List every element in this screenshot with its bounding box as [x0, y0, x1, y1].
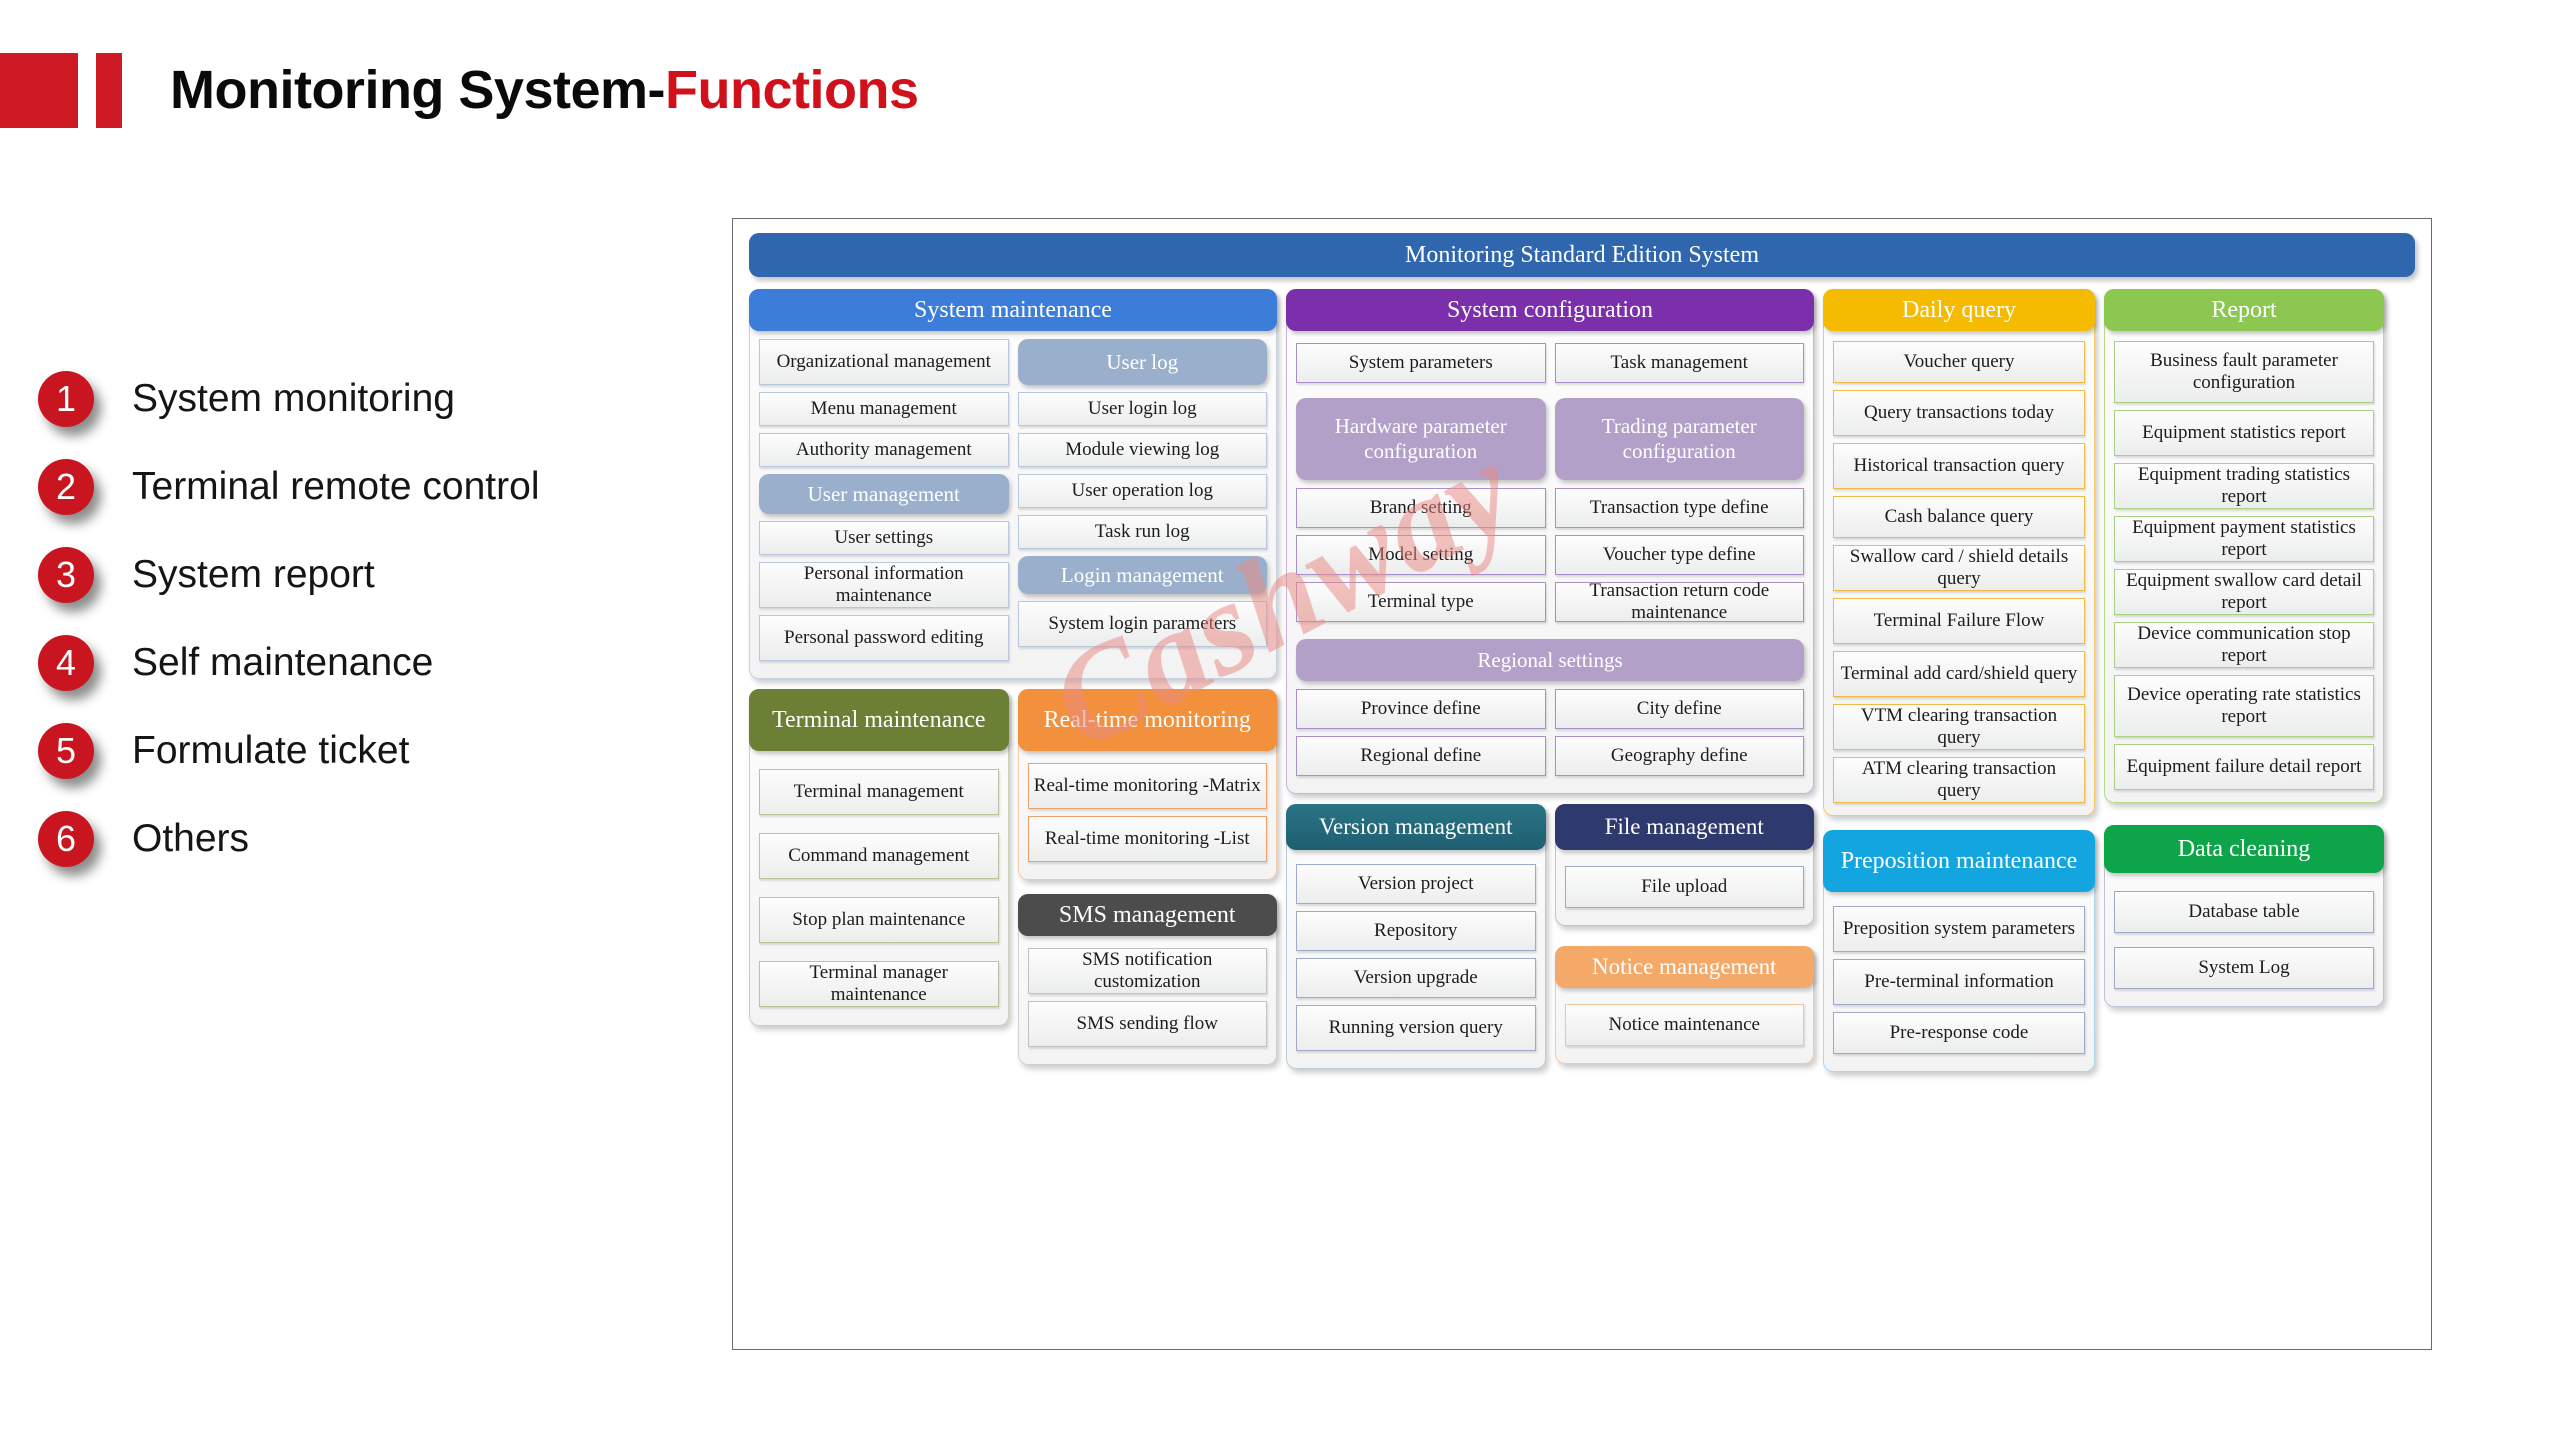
item-running-version-query[interactable]: Running version query — [1296, 1005, 1536, 1051]
diagram-frame: Cashway Monitoring Standard Edition Syst… — [732, 218, 2432, 1350]
agenda-number-badge: 2 — [38, 459, 94, 515]
item-system-log[interactable]: System Log — [2114, 947, 2374, 989]
item-preposition-system-parameters[interactable]: Preposition system parameters — [1833, 906, 2085, 952]
panel-header-report[interactable]: Report — [2104, 289, 2384, 331]
item-user-operation-log[interactable]: User operation log — [1018, 474, 1268, 508]
panel-header-sms-management[interactable]: SMS management — [1018, 894, 1278, 936]
panel-daily-query: Daily query Voucher query Query transact… — [1823, 289, 2095, 816]
item-terminal-management[interactable]: Terminal management — [759, 769, 999, 815]
system-maintenance-left-stack: Organizational management Menu managemen… — [759, 339, 1009, 668]
item-task-run-log[interactable]: Task run log — [1018, 515, 1268, 549]
panel-sms-management: SMS management SMS notification customiz… — [1018, 894, 1278, 1065]
item-swallow-card-shield-details-query[interactable]: Swallow card / shield details query — [1833, 545, 2085, 591]
title-decor-square-small — [96, 53, 122, 128]
item-user-settings[interactable]: User settings — [759, 521, 1009, 555]
slide-root: Monitoring System-Functions 1 System mon… — [0, 0, 2560, 1440]
item-equipment-failure-detail-report[interactable]: Equipment failure detail report — [2114, 744, 2374, 790]
item-model-setting[interactable]: Model setting — [1296, 535, 1546, 575]
regional-settings-body: Province define Regional define City def… — [1296, 681, 1804, 783]
item-voucher-type-define[interactable]: Voucher type define — [1555, 535, 1805, 575]
item-sms-sending-flow[interactable]: SMS sending flow — [1028, 1001, 1268, 1047]
item-pre-response-code[interactable]: Pre-response code — [1833, 1012, 2085, 1054]
panel-header-version-management[interactable]: Version management — [1286, 804, 1546, 850]
agenda-number-badge: 5 — [38, 723, 94, 779]
column-system-configuration: System configuration System parameters T… — [1286, 289, 1814, 1069]
agenda-item-label: Self maintenance — [132, 641, 433, 685]
item-brand-setting[interactable]: Brand setting — [1296, 488, 1546, 528]
panel-header-notice-management[interactable]: Notice management — [1555, 946, 1815, 988]
panel-header-file-management[interactable]: File management — [1555, 804, 1815, 850]
item-historical-transaction-query[interactable]: Historical transaction query — [1833, 443, 2085, 489]
agenda-item-2[interactable]: 2 Terminal remote control — [38, 443, 698, 531]
item-voucher-query[interactable]: Voucher query — [1833, 341, 2085, 383]
item-device-communication-stop-report[interactable]: Device communication stop report — [2114, 622, 2374, 668]
item-geography-define[interactable]: Geography define — [1555, 736, 1805, 776]
regional-left-stack: Province define Regional define — [1296, 689, 1546, 783]
item-personal-information-maintenance[interactable]: Personal information maintenance — [759, 562, 1009, 608]
master-system-banner: Monitoring Standard Edition System — [749, 233, 2415, 277]
subheader-login-management[interactable]: Login management — [1018, 556, 1268, 594]
column-report: Report Business fault parameter configur… — [2104, 289, 2384, 1007]
title-decor-square-large — [0, 53, 78, 128]
trading-parameter-stack: Trading parameter configuration Transact… — [1555, 398, 1805, 629]
panel-header-preposition-maintenance[interactable]: Preposition maintenance — [1823, 830, 2095, 892]
panel-realtime-monitoring: Real-time monitoring Real-time monitorin… — [1018, 689, 1278, 880]
panel-system-maintenance: System maintenance Organizational manage… — [749, 289, 1277, 679]
panel-header-daily-query[interactable]: Daily query — [1823, 289, 2095, 331]
agenda-number-badge: 4 — [38, 635, 94, 691]
panel-notice-management: Notice management Notice maintenance — [1555, 946, 1815, 1064]
version-file-row: Version management Version project Repos… — [1286, 804, 1814, 1069]
item-command-management[interactable]: Command management — [759, 833, 999, 879]
subheader-user-management[interactable]: User management — [759, 474, 1009, 514]
item-terminal-add-card-shield-query[interactable]: Terminal add card/shield query — [1833, 651, 2085, 697]
page-title-main: Monitoring System- — [170, 60, 665, 120]
agenda-list: 1 System monitoring 2 Terminal remote co… — [38, 355, 698, 883]
panel-header-system-configuration[interactable]: System configuration — [1286, 289, 1814, 331]
column-daily-query: Daily query Voucher query Query transact… — [1823, 289, 2095, 1072]
slide-title-row: Monitoring System-Functions — [0, 50, 919, 130]
page-title: Monitoring System-Functions — [170, 59, 919, 121]
item-query-transactions-today[interactable]: Query transactions today — [1833, 390, 2085, 436]
item-transaction-return-code-maintenance[interactable]: Transaction return code maintenance — [1555, 582, 1805, 622]
agenda-number-badge: 1 — [38, 371, 94, 427]
item-sms-notification-customization[interactable]: SMS notification customization — [1028, 948, 1268, 994]
agenda-item-1[interactable]: 1 System monitoring — [38, 355, 698, 443]
item-atm-clearing-transaction-query[interactable]: ATM clearing transaction query — [1833, 757, 2085, 803]
system-maintenance-body: Organizational management Menu managemen… — [750, 331, 1276, 668]
panel-file-management: File management File upload — [1555, 804, 1815, 926]
item-version-project[interactable]: Version project — [1296, 864, 1536, 904]
agenda-item-label: Others — [132, 817, 249, 861]
item-terminal-failure-flow[interactable]: Terminal Failure Flow — [1833, 598, 2085, 644]
terminal-maintenance-body: Terminal management Command management S… — [750, 751, 1008, 1007]
panel-data-cleaning: Data cleaning Database table System Log — [2104, 825, 2384, 1007]
item-equipment-trading-statistics-report[interactable]: Equipment trading statistics report — [2114, 463, 2374, 509]
agenda-number-badge: 6 — [38, 811, 94, 867]
agenda-item-4[interactable]: 4 Self maintenance — [38, 619, 698, 707]
item-business-fault-parameter-configuration[interactable]: Business fault parameter configuration — [2114, 341, 2374, 403]
item-notice-maintenance[interactable]: Notice maintenance — [1565, 1004, 1805, 1046]
agenda-number-badge: 3 — [38, 547, 94, 603]
item-personal-password-editing[interactable]: Personal password editing — [759, 615, 1009, 661]
version-management-wrap: Version management Version project Repos… — [1286, 804, 1546, 1069]
agenda-item-6[interactable]: 6 Others — [38, 795, 698, 883]
agenda-item-5[interactable]: 5 Formulate ticket — [38, 707, 698, 795]
item-database-table[interactable]: Database table — [2114, 891, 2374, 933]
preposition-maintenance-body: Preposition system parameters Pre-termin… — [1824, 892, 2094, 1054]
hardware-parameter-stack: Hardware parameter configuration Brand s… — [1296, 398, 1546, 629]
subheader-trading-parameter-configuration[interactable]: Trading parameter configuration — [1555, 398, 1805, 480]
panel-version-management: Version management Version project Repos… — [1286, 804, 1546, 1069]
item-city-define[interactable]: City define — [1555, 689, 1805, 729]
item-authority-management[interactable]: Authority management — [759, 433, 1009, 467]
panel-header-realtime-monitoring[interactable]: Real-time monitoring — [1018, 689, 1278, 751]
sms-management-body: SMS notification customization SMS sendi… — [1019, 936, 1277, 1047]
sysconf-col-left: System parameters — [1296, 343, 1546, 390]
regional-right-stack: City define Geography define — [1555, 689, 1805, 783]
panel-header-terminal-maintenance[interactable]: Terminal maintenance — [749, 689, 1009, 751]
panel-terminal-maintenance: Terminal maintenance Terminal management… — [749, 689, 1009, 1026]
item-menu-management[interactable]: Menu management — [759, 392, 1009, 426]
item-version-upgrade[interactable]: Version upgrade — [1296, 958, 1536, 998]
terminal-maintenance-wrap: Terminal maintenance Terminal management… — [749, 689, 1009, 1065]
item-province-define[interactable]: Province define — [1296, 689, 1546, 729]
item-cash-balance-query[interactable]: Cash balance query — [1833, 496, 2085, 538]
subheader-user-log[interactable]: User log — [1018, 339, 1268, 385]
agenda-item-label: System report — [132, 553, 375, 597]
item-equipment-payment-statistics-report[interactable]: Equipment payment statistics report — [2114, 516, 2374, 562]
page-title-accent: Functions — [665, 60, 918, 120]
item-device-operating-rate-statistics-report[interactable]: Device operating rate statistics report — [2114, 675, 2374, 737]
item-organizational-management[interactable]: Organizational management — [759, 339, 1009, 385]
item-stop-plan-maintenance[interactable]: Stop plan maintenance — [759, 897, 999, 943]
system-configuration-param-row: Hardware parameter configuration Brand s… — [1287, 390, 1813, 629]
item-realtime-monitoring-matrix[interactable]: Real-time monitoring -Matrix — [1028, 763, 1268, 809]
item-terminal-type[interactable]: Terminal type — [1296, 582, 1546, 622]
realtime-monitoring-body: Real-time monitoring -Matrix Real-time m… — [1019, 751, 1277, 862]
notice-management-body: Notice maintenance — [1556, 988, 1814, 1046]
subheader-regional-settings[interactable]: Regional settings — [1296, 639, 1804, 681]
panel-header-system-maintenance[interactable]: System maintenance — [749, 289, 1277, 331]
sysconf-col-right: Task management — [1555, 343, 1805, 390]
file-notice-wrap: File management File upload Notice manag… — [1555, 804, 1815, 1069]
subheader-hardware-parameter-configuration[interactable]: Hardware parameter configuration — [1296, 398, 1546, 480]
item-module-viewing-log[interactable]: Module viewing log — [1018, 433, 1268, 467]
panel-header-data-cleaning[interactable]: Data cleaning — [2104, 825, 2384, 873]
item-realtime-monitoring-list[interactable]: Real-time monitoring -List — [1028, 816, 1268, 862]
diagram-columns: System maintenance Organizational manage… — [749, 289, 2415, 1072]
panel-preposition-maintenance: Preposition maintenance Preposition syst… — [1823, 830, 2095, 1072]
realtime-and-sms-wrap: Real-time monitoring Real-time monitorin… — [1018, 689, 1278, 1065]
item-user-login-log[interactable]: User login log — [1018, 392, 1268, 426]
item-pre-terminal-information[interactable]: Pre-terminal information — [1833, 959, 2085, 1005]
item-equipment-swallow-card-detail-report[interactable]: Equipment swallow card detail report — [2114, 569, 2374, 615]
file-management-body: File upload — [1556, 850, 1814, 908]
item-vtm-clearing-transaction-query[interactable]: VTM clearing transaction query — [1833, 704, 2085, 750]
agenda-item-label: Formulate ticket — [132, 729, 409, 773]
agenda-item-label: Terminal remote control — [132, 465, 539, 509]
item-system-login-parameters[interactable]: System login parameters — [1018, 601, 1268, 647]
item-equipment-statistics-report[interactable]: Equipment statistics report — [2114, 410, 2374, 456]
column-system-maintenance: System maintenance Organizational manage… — [749, 289, 1277, 1065]
system-maintenance-right-stack: User log User login log Module viewing l… — [1018, 339, 1268, 668]
item-regional-define[interactable]: Regional define — [1296, 736, 1546, 776]
daily-query-body: Voucher query Query transactions today H… — [1824, 331, 2094, 803]
report-body: Business fault parameter configuration E… — [2105, 331, 2383, 790]
data-cleaning-body: Database table System Log — [2105, 873, 2383, 989]
item-transaction-type-define[interactable]: Transaction type define — [1555, 488, 1805, 528]
item-repository[interactable]: Repository — [1296, 911, 1536, 951]
item-terminal-manager-maintenance[interactable]: Terminal manager maintenance — [759, 961, 999, 1007]
panel-system-configuration: System configuration System parameters T… — [1286, 289, 1814, 794]
agenda-item-label: System monitoring — [132, 377, 455, 421]
version-management-body: Version project Repository Version upgra… — [1287, 850, 1545, 1051]
item-system-parameters[interactable]: System parameters — [1296, 343, 1546, 383]
system-configuration-top-row: System parameters Task management — [1287, 331, 1813, 390]
terminal-and-realtime-row: Terminal maintenance Terminal management… — [749, 689, 1277, 1065]
item-file-upload[interactable]: File upload — [1565, 866, 1805, 908]
panel-report: Report Business fault parameter configur… — [2104, 289, 2384, 803]
regional-settings-group: Regional settings Province define Region… — [1296, 639, 1804, 783]
item-task-management[interactable]: Task management — [1555, 343, 1805, 383]
agenda-item-3[interactable]: 3 System report — [38, 531, 698, 619]
